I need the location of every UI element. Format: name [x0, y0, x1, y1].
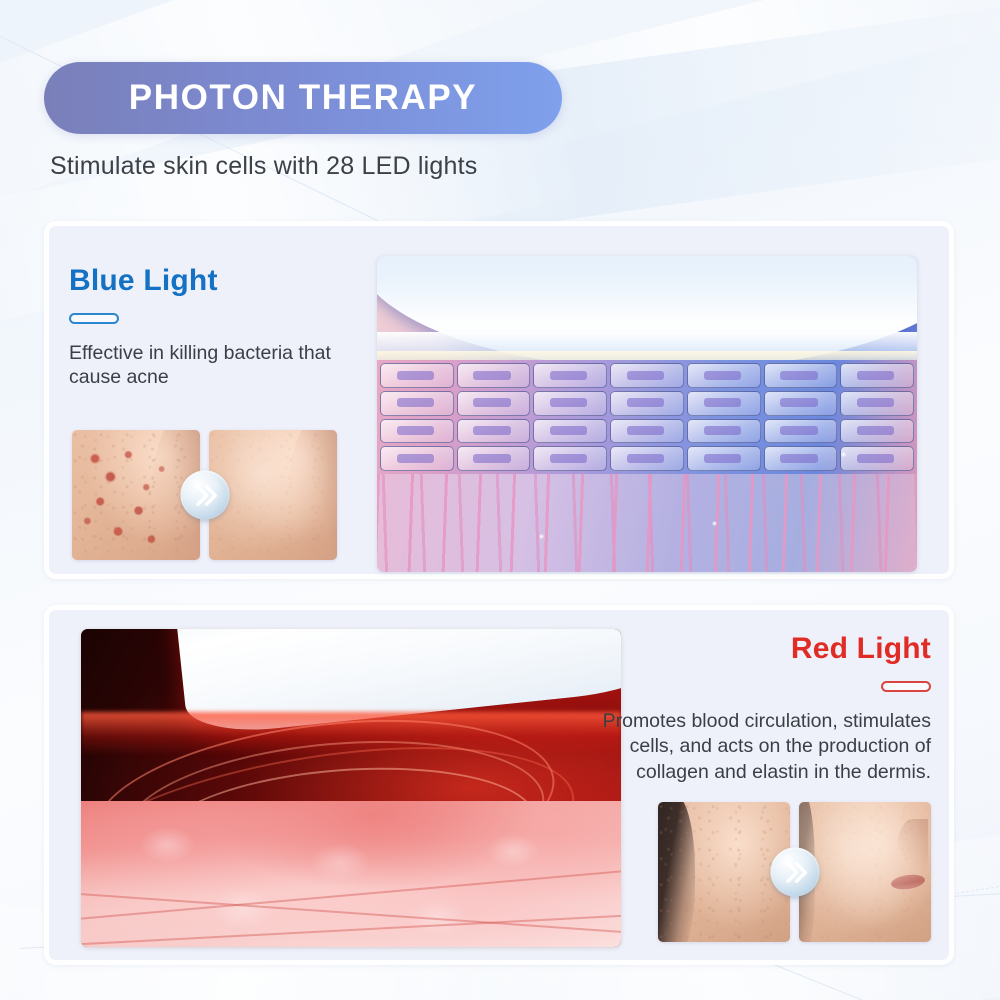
- double-chevron-right-icon: [180, 471, 229, 520]
- page-title: PHOTON THERAPY: [129, 78, 477, 118]
- red-light-before-after: [658, 802, 931, 942]
- blue-light-card: Blue Light Effective in killing bacteria…: [44, 221, 954, 579]
- blue-led-panel-image: [377, 256, 917, 572]
- red-light-image: [81, 629, 621, 947]
- blue-light-text-block: Blue Light Effective in killing bacteria…: [69, 264, 379, 389]
- blue-light-description: Effective in killing bacteria that cause…: [69, 341, 379, 389]
- blue-light-underline-rule: [69, 313, 119, 324]
- dermis-tissue: [81, 801, 621, 947]
- red-light-card: Red Light Promotes blood circulation, st…: [44, 605, 954, 965]
- page-title-badge: PHOTON THERAPY: [44, 62, 562, 134]
- double-chevron-right-icon: [770, 848, 819, 897]
- led-cell-grid: [377, 360, 917, 474]
- red-light-underline-rule: [881, 681, 931, 692]
- blue-light-before-after: [72, 430, 337, 560]
- red-light-text-block: Red Light Promotes blood circulation, st…: [601, 632, 931, 785]
- skin-fiber-strands: [377, 474, 917, 572]
- blue-light-title: Blue Light: [69, 264, 379, 297]
- page-subtitle: Stimulate skin cells with 28 LED lights: [50, 152, 477, 181]
- red-light-title: Red Light: [601, 632, 931, 665]
- red-light-description: Promotes blood circulation, stimulates c…: [601, 709, 931, 785]
